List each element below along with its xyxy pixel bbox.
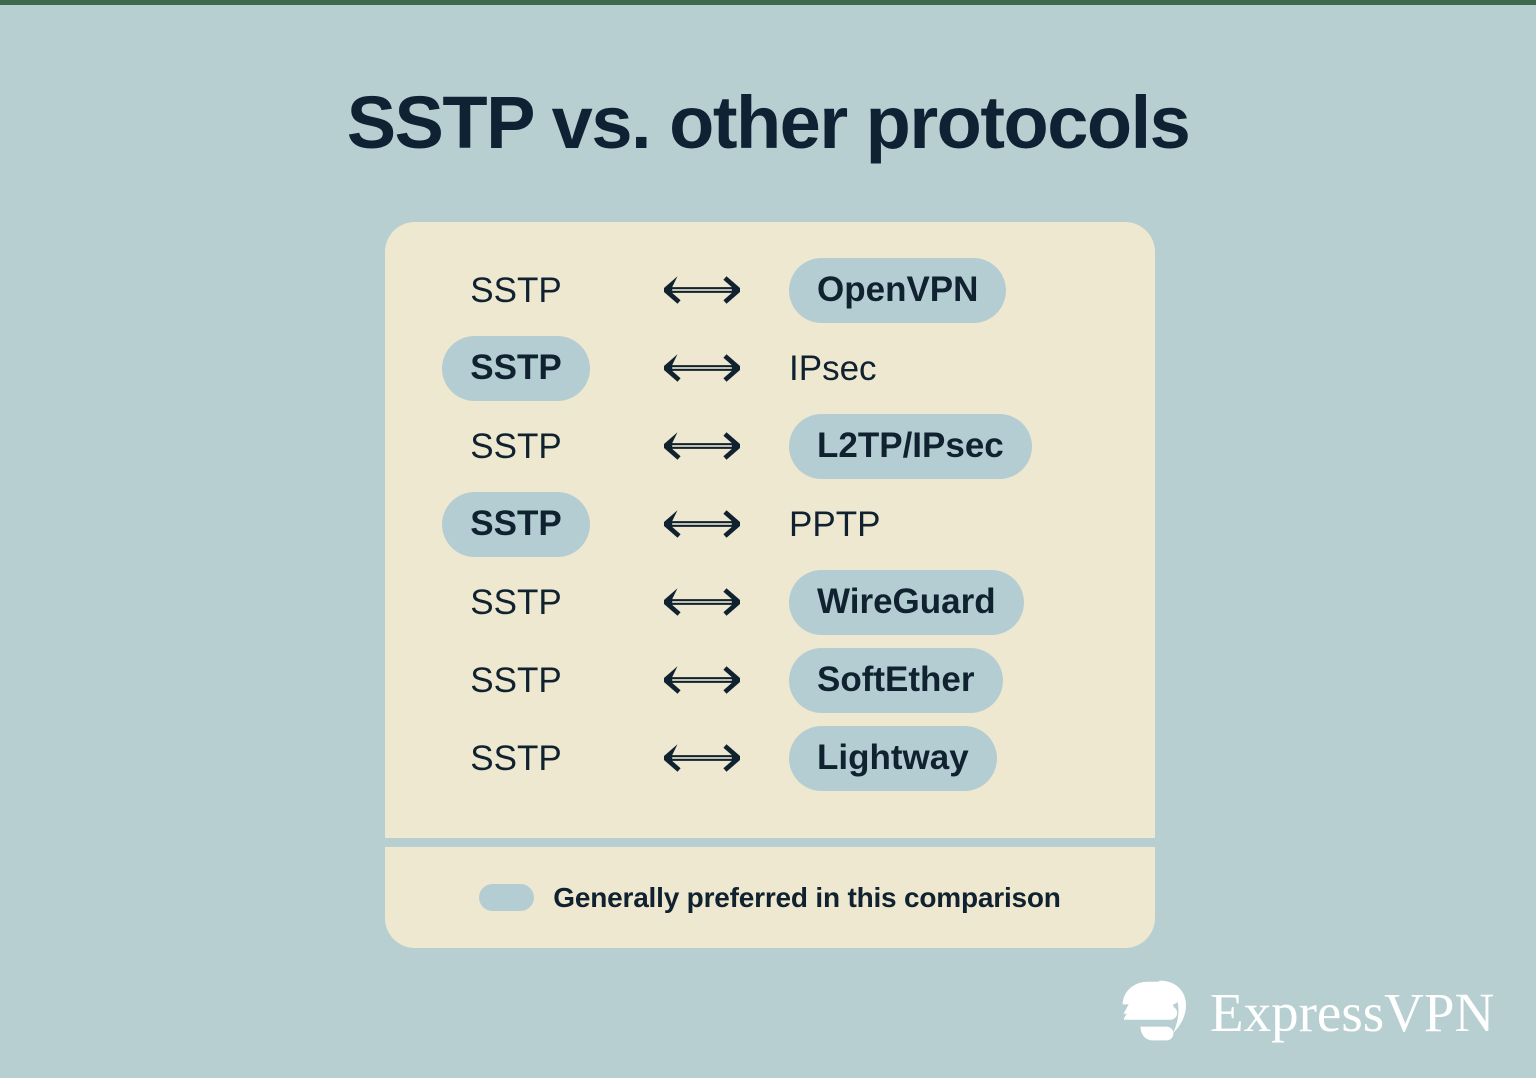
protocol-label-left: SSTP xyxy=(470,741,561,776)
row-right-cell: IPsec xyxy=(757,351,1155,386)
double-headed-arrow-icon xyxy=(660,507,744,541)
protocol-label-left: SSTP xyxy=(442,336,589,401)
legend-label: Generally preferred in this comparison xyxy=(553,882,1060,914)
legend-divider xyxy=(385,838,1155,847)
row-left-cell: SSTP xyxy=(385,336,647,401)
row-arrow-cell xyxy=(647,663,757,697)
row-arrow-cell xyxy=(647,585,757,619)
double-headed-arrow-icon xyxy=(660,741,744,775)
comparison-rows: SSTP OpenVPN SSTP xyxy=(385,222,1155,838)
protocol-label-right: IPsec xyxy=(789,351,877,386)
protocol-label-right: SoftEther xyxy=(789,648,1003,713)
comparison-card: SSTP OpenVPN SSTP xyxy=(385,222,1155,948)
page-title: SSTP vs. other protocols xyxy=(0,86,1536,160)
protocol-label-left: SSTP xyxy=(470,585,561,620)
protocol-label-right: L2TP/IPsec xyxy=(789,414,1032,479)
row-left-cell: SSTP xyxy=(385,741,647,776)
comparison-row: SSTP WireGuard xyxy=(385,563,1155,641)
expressvpn-e-logo-icon xyxy=(1118,978,1196,1046)
row-arrow-cell xyxy=(647,273,757,307)
protocol-label-left: SSTP xyxy=(470,273,561,308)
row-right-cell: Lightway xyxy=(757,726,1155,791)
row-left-cell: SSTP xyxy=(385,492,647,557)
double-headed-arrow-icon xyxy=(660,429,744,463)
double-headed-arrow-icon xyxy=(660,273,744,307)
protocol-label-right: Lightway xyxy=(789,726,997,791)
row-right-cell: OpenVPN xyxy=(757,258,1155,323)
row-left-cell: SSTP xyxy=(385,585,647,620)
row-right-cell: SoftEther xyxy=(757,648,1155,713)
row-arrow-cell xyxy=(647,429,757,463)
comparison-row: SSTP IPsec xyxy=(385,329,1155,407)
row-right-cell: L2TP/IPsec xyxy=(757,414,1155,479)
comparison-row: SSTP L2TP/IPsec xyxy=(385,407,1155,485)
legend: Generally preferred in this comparison xyxy=(385,847,1155,948)
row-arrow-cell xyxy=(647,351,757,385)
row-right-cell: WireGuard xyxy=(757,570,1155,635)
protocol-label-left: SSTP xyxy=(470,663,561,698)
row-arrow-cell xyxy=(647,741,757,775)
row-arrow-cell xyxy=(647,507,757,541)
row-left-cell: SSTP xyxy=(385,429,647,464)
protocol-label-left: SSTP xyxy=(470,429,561,464)
brand-wordmark: ExpressVPN xyxy=(1210,985,1494,1040)
protocol-label-left: SSTP xyxy=(442,492,589,557)
comparison-row: SSTP Lightway xyxy=(385,719,1155,797)
comparison-row: SSTP OpenVPN xyxy=(385,251,1155,329)
double-headed-arrow-icon xyxy=(660,663,744,697)
protocol-label-right: WireGuard xyxy=(789,570,1024,635)
protocol-label-right: PPTP xyxy=(789,507,880,542)
comparison-row: SSTP SoftEther xyxy=(385,641,1155,719)
pill-swatch-icon xyxy=(479,884,534,911)
row-left-cell: SSTP xyxy=(385,663,647,698)
row-right-cell: PPTP xyxy=(757,507,1155,542)
top-accent-band xyxy=(0,0,1536,5)
double-headed-arrow-icon xyxy=(660,351,744,385)
brand-logo: ExpressVPN xyxy=(1118,978,1458,1046)
comparison-row: SSTP PPTP xyxy=(385,485,1155,563)
double-headed-arrow-icon xyxy=(660,585,744,619)
protocol-label-right: OpenVPN xyxy=(789,258,1006,323)
row-left-cell: SSTP xyxy=(385,273,647,308)
